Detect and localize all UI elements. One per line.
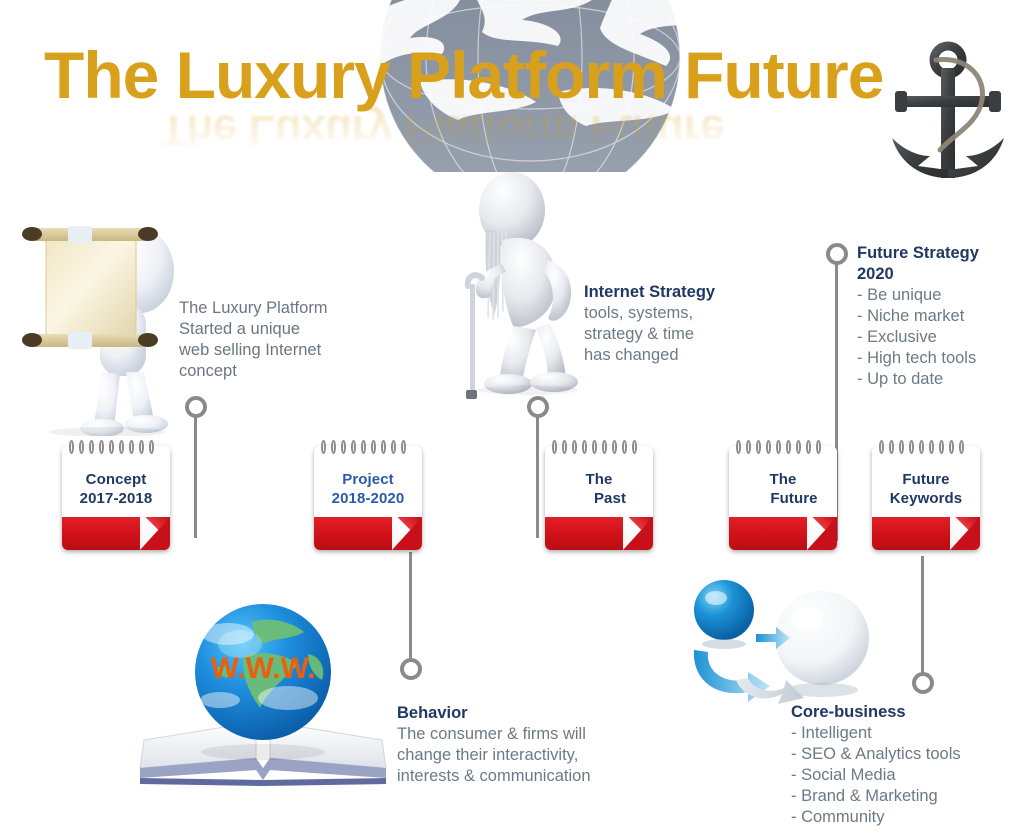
connector-ring-core-business (912, 672, 934, 694)
note-heading: Behavior (397, 703, 627, 724)
note-heading: Core-business (791, 702, 1011, 723)
card-the-future[interactable]: TheFuture (729, 440, 837, 550)
card-spiral-binding (552, 440, 646, 456)
note-bullet: - Up to date (857, 369, 1024, 390)
card-label: Concept2017-2018 (62, 470, 170, 508)
infographic-canvas: The Luxury Platform Future The Luxury Pl… (0, 0, 1024, 834)
card-body: ThePast (545, 446, 653, 550)
note-bullet: - SEO & Analytics tools (791, 744, 1011, 765)
note-line: concept (179, 361, 379, 382)
connector-line-core-business (921, 556, 924, 678)
card-label: Project2018-2020 (314, 470, 422, 508)
card-label: TheFuture (729, 470, 837, 508)
card-label: FutureKeywords (872, 470, 980, 508)
globe-on-book-illustration: W.W.W. (132, 572, 394, 804)
note-bullet: - Be unique (857, 285, 1024, 306)
note-line: The Luxury Platform (179, 298, 379, 319)
card-spiral-binding (69, 440, 163, 456)
card-page-curl (807, 517, 837, 550)
note-line: Started a unique (179, 319, 379, 340)
card-body: Concept2017-2018 (62, 446, 170, 550)
note-bullet: - Exclusive (857, 327, 1024, 348)
card-body: TheFuture (729, 446, 837, 550)
note-line: interests & communication (397, 766, 627, 787)
note-line: web selling Internet (179, 340, 379, 361)
card-future-keywords[interactable]: FutureKeywords (872, 440, 980, 550)
connector-line-past (536, 416, 539, 538)
connector-ring-future-strategy (826, 243, 848, 265)
connector-ring-project (400, 658, 422, 680)
note-internet-strategy: Internet Strategy tools, systems, strate… (584, 282, 784, 366)
note-bullet: - Social Media (791, 765, 1011, 786)
card-concept[interactable]: Concept2017-2018 (62, 440, 170, 550)
card-spiral-binding (879, 440, 973, 456)
card-page-curl (623, 517, 653, 550)
note-bullet: - Brand & Marketing (791, 786, 1011, 807)
card-the-past[interactable]: ThePast (545, 440, 653, 550)
page-title: The Luxury Platform Future (44, 35, 934, 115)
card-spiral-binding (321, 440, 415, 456)
note-heading: Internet Strategy (584, 282, 784, 303)
note-line: change their interactivity, (397, 745, 627, 766)
note-bullet: - Community (791, 807, 1011, 828)
card-page-curl (950, 517, 980, 550)
note-bullet: - Intelligent (791, 723, 1011, 744)
note-heading: Future Strategy (857, 243, 1024, 264)
card-page-curl (392, 517, 422, 550)
note-bullet: - High tech tools (857, 348, 1024, 369)
note-line: tools, systems, (584, 303, 784, 324)
anchor-icon (878, 38, 1018, 193)
card-page-curl (140, 517, 170, 550)
note-line: The consumer & firms will (397, 724, 627, 745)
connector-line-project (409, 552, 412, 664)
card-project[interactable]: Project2018-2020 (314, 440, 422, 550)
connector-line-concept (194, 416, 197, 538)
card-spiral-binding (736, 440, 830, 456)
connector-ring-past (527, 396, 549, 418)
connector-ring-concept (185, 396, 207, 418)
note-behavior: Behavior The consumer & firms will chang… (397, 703, 627, 787)
scroll-figure-illustration (22, 196, 192, 436)
note-line: has changed (584, 345, 784, 366)
elderly-figure-illustration (444, 168, 594, 418)
page-title-reflection: The Luxury Platform Future (160, 106, 920, 154)
globe-www-label: W.W.W. (211, 652, 316, 685)
note-bullet: - Niche market (857, 306, 1024, 327)
card-body: FutureKeywords (872, 446, 980, 550)
card-body: Project2018-2020 (314, 446, 422, 550)
note-line: strategy & time (584, 324, 784, 345)
note-heading-year: 2020 (857, 264, 1024, 285)
note-luxury-platform: The Luxury Platform Started a unique web… (179, 298, 379, 382)
note-future-strategy: Future Strategy 2020 - Be unique - Niche… (857, 243, 1024, 390)
card-label: ThePast (545, 470, 653, 508)
note-core-business: Core-business - Intelligent - SEO & Anal… (791, 702, 1011, 828)
